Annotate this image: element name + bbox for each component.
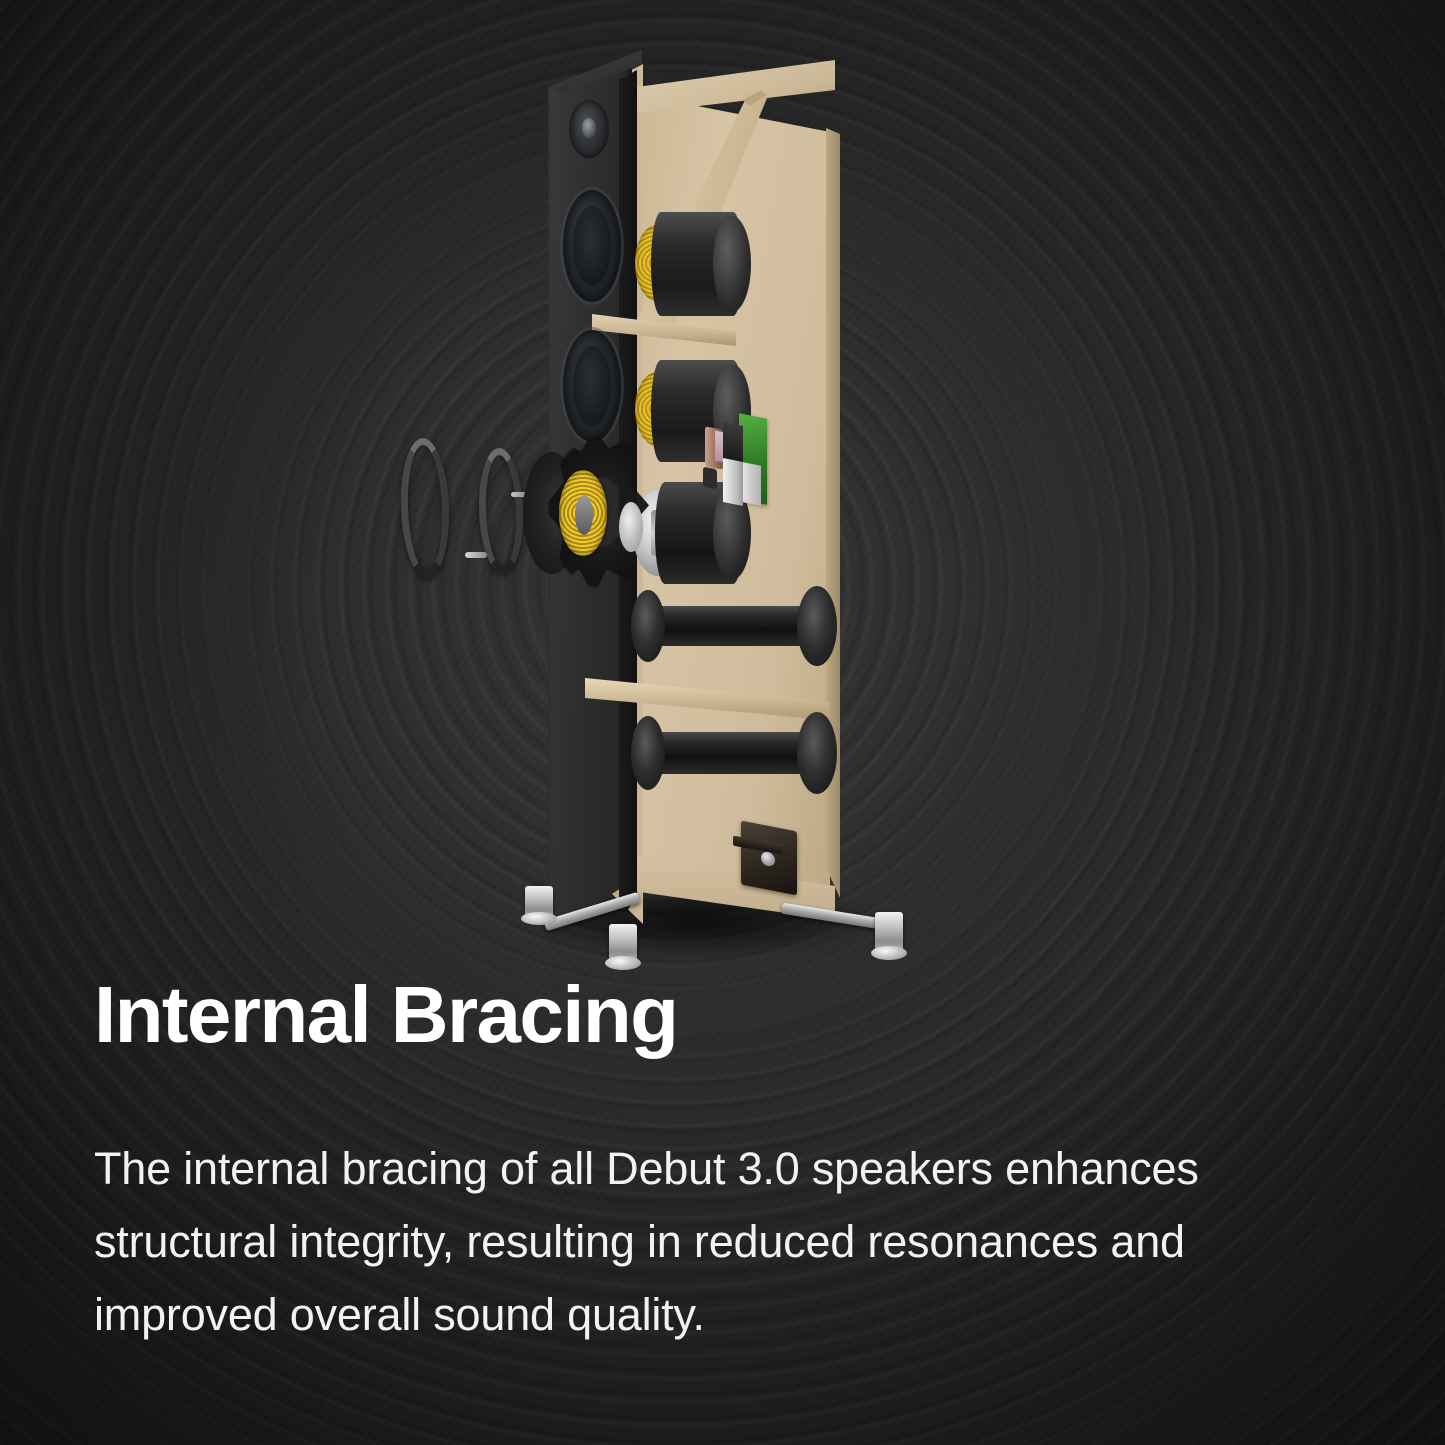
- product-feature-card: Internal Bracing The internal bracing of…: [0, 0, 1445, 1445]
- crossover-capacitor-white-2: [743, 462, 761, 505]
- woofer-mounting-screw-1: [465, 552, 487, 558]
- baffle-woofer-2-dome: [573, 346, 611, 426]
- port-lower-flare-rear: [797, 712, 837, 794]
- crossover-coil-mount: [703, 467, 717, 490]
- spike-disc-1: [521, 912, 557, 925]
- port-lower-flare-front: [631, 716, 665, 790]
- cutaway-speaker-illustration: [383, 40, 903, 955]
- feature-description: The internal bracing of all Debut 3.0 sp…: [94, 1133, 1269, 1352]
- woofer-1-magnet-cap: [713, 216, 751, 312]
- feature-copy-block: Internal Bracing The internal bracing of…: [94, 975, 1294, 1352]
- woofer-pole-piece: [619, 502, 643, 552]
- woofer-dust-cap: [575, 495, 593, 535]
- page-title: Internal Bracing: [94, 975, 1294, 1055]
- port-upper-flare-front: [631, 590, 665, 662]
- crossover-capacitor-white-1: [723, 458, 743, 506]
- port-upper-flare-rear: [797, 586, 837, 666]
- tweeter-dome: [582, 118, 596, 138]
- spike-disc-3: [871, 946, 907, 960]
- woofer-trim-ring-outer: [399, 437, 452, 579]
- spike-disc-2: [605, 956, 641, 970]
- baffle-woofer-1-dome: [573, 206, 611, 286]
